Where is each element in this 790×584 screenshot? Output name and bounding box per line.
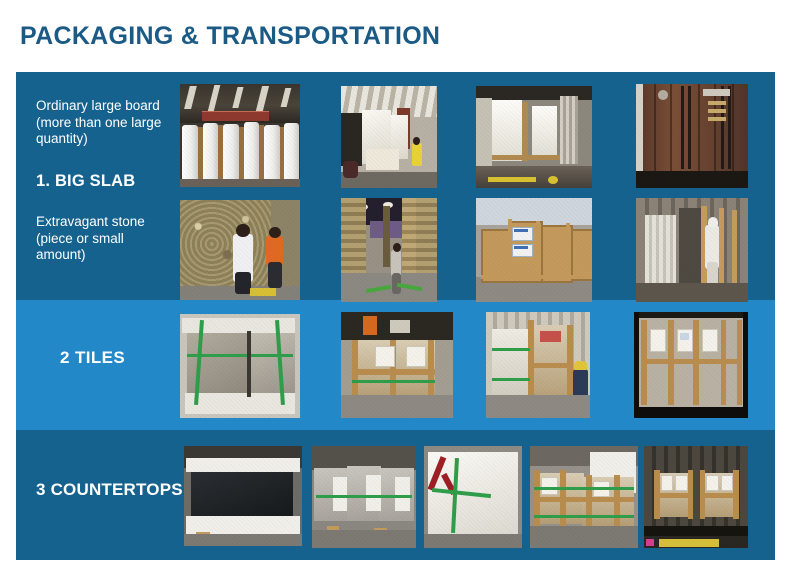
photo-slabs-on-flatbed-in-container bbox=[476, 86, 592, 188]
label-countertops: 3 COUNTERTOPS bbox=[36, 480, 186, 500]
photo-slab-aisle-worker bbox=[341, 198, 437, 302]
photo-grey-countertops-on-a-frames bbox=[312, 446, 416, 548]
photo-bagged-bundle-red-green-straps bbox=[424, 446, 522, 548]
page-title: PACKAGING & TRANSPORTATION bbox=[20, 22, 440, 51]
label-extravagant-stone: Extravagant stone (piece or small amount… bbox=[36, 214, 176, 264]
photo-black-countertop-on-pallet bbox=[184, 446, 302, 546]
label-big-slab: 1. BIG SLAB bbox=[36, 172, 186, 191]
photo-countertop-crates-in-container bbox=[644, 446, 748, 548]
photo-workers-inspecting-granite-slab bbox=[180, 200, 300, 300]
photo-warehouse-wrapped-slab-bundles bbox=[180, 84, 300, 187]
photo-tile-crates-inside-container bbox=[634, 312, 748, 418]
slide-packaging-transportation: PACKAGING & TRANSPORTATION Ordinary larg… bbox=[0, 0, 790, 584]
photo-strapped-tile-bundle bbox=[180, 314, 300, 418]
photo-truck-loading-slabs bbox=[341, 86, 437, 188]
photo-wooden-crated-countertop-pallets bbox=[530, 446, 638, 548]
content-panel: Ordinary large board (more than one larg… bbox=[16, 72, 775, 560]
label-ordinary-large-board: Ordinary large board (more than one larg… bbox=[36, 98, 176, 148]
photo-loading-tile-crate-into-container bbox=[486, 312, 590, 418]
photo-container-rear-doors bbox=[636, 84, 748, 188]
photo-wooden-crated-slab-frames bbox=[476, 198, 592, 302]
photo-crated-tile-pallet bbox=[341, 312, 453, 418]
photo-worker-loading-frames-into-container bbox=[636, 198, 748, 302]
